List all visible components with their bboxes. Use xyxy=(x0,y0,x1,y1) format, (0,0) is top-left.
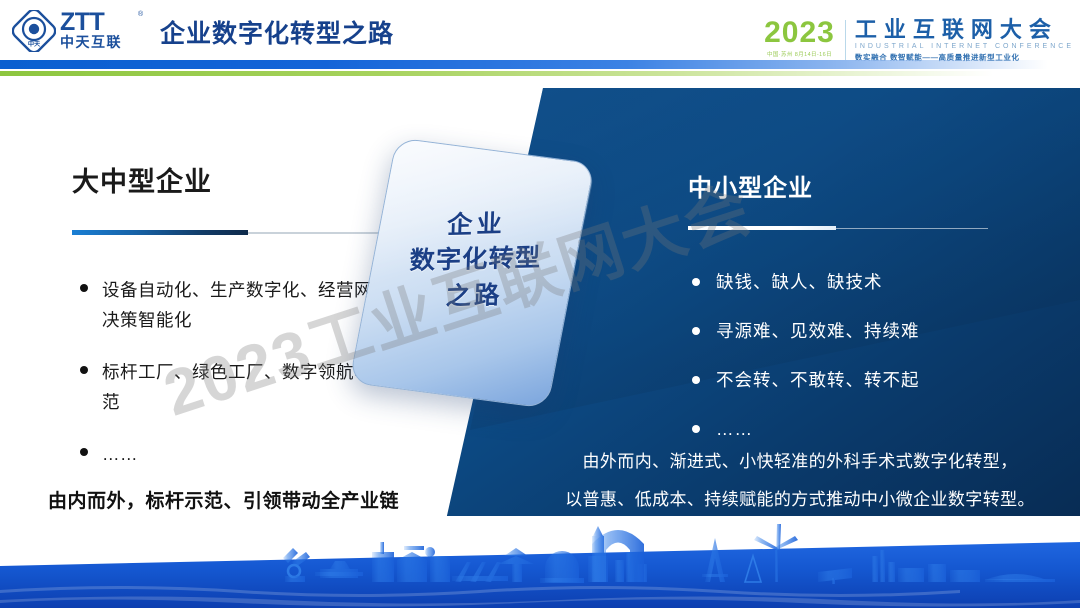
list-item: 不会转、不敢转、转不起 xyxy=(688,367,1048,393)
list-item: 寻源难、见效难、持续难 xyxy=(688,318,1048,344)
slide-header: 中天 ZTT ® 中天互联 企业数字化转型之路 2023 中国·苏州 8月14日… xyxy=(0,0,1080,58)
right-underline-thin xyxy=(836,228,988,229)
right-bullet-list: 缺钱、缺人、缺技术 寻源难、见效难、持续难 不会转、不敢转、转不起 …… xyxy=(688,269,1048,442)
bullet-dot-icon xyxy=(80,284,88,292)
bullet-dot-icon xyxy=(692,327,700,335)
conference-name-cn: 工业互联网大会 xyxy=(855,18,1074,42)
right-panel-underline xyxy=(688,225,988,233)
list-item-label: 缺钱、缺人、缺技术 xyxy=(716,269,883,295)
bullet-dot-icon xyxy=(692,425,700,433)
left-underline-thin xyxy=(248,232,390,234)
list-item: 缺钱、缺人、缺技术 xyxy=(688,269,1048,295)
page-title: 企业数字化转型之路 xyxy=(160,14,394,50)
center-card-text: 企业 数字化转型 之路 xyxy=(372,205,578,317)
list-item: …… xyxy=(72,439,432,469)
list-item: …… xyxy=(688,416,1048,442)
center-card-line3: 之路 xyxy=(372,275,575,318)
ztt-en-text: ZTT xyxy=(60,10,104,34)
right-footer-line2: 以普惠、低成本、持续赋能的方式推动中小微企业数字转型。 xyxy=(535,481,1065,519)
right-panel-title: 中小型企业 xyxy=(688,168,1048,203)
ztt-diamond-icon: 中天 xyxy=(12,10,56,52)
ztt-wordmark: ZTT ® 中天互联 xyxy=(60,10,148,52)
bullet-dot-icon xyxy=(692,278,700,286)
list-item-label: 不会转、不敢转、转不起 xyxy=(716,367,920,393)
left-panel-footer: 由内而外，标杆示范、引领带动全产业链 xyxy=(48,486,399,513)
center-card-face: 企业 数字化转型 之路 xyxy=(349,137,595,409)
left-underline-thick xyxy=(72,230,248,235)
registered-icon: ® xyxy=(138,11,143,18)
ztt-mark-cn: 中天 xyxy=(28,40,41,48)
list-item-label: …… xyxy=(102,439,138,469)
center-card-line2: 数字化转型 xyxy=(374,239,577,280)
center-card: 企业 数字化转型 之路 xyxy=(372,148,572,398)
header-rule-green xyxy=(0,71,1080,76)
bottom-skyline-band xyxy=(0,516,1080,608)
right-panel-content: 中小型企业 缺钱、缺人、缺技术 寻源难、见效难、持续难 不会转、不敢转、转不起 … xyxy=(688,168,1048,465)
header-rule-blue xyxy=(0,60,1080,69)
left-panel-underline xyxy=(72,229,390,237)
list-item-label: 寻源难、见效难、持续难 xyxy=(716,318,920,344)
center-card-line1: 企业 xyxy=(375,205,578,244)
right-underline-thick xyxy=(688,226,836,230)
right-footer-line1: 由外而内、渐进式、小快轻准的外科手术式数字化转型， xyxy=(535,443,1065,481)
conference-date: 中国·苏州 8月14日-16日 xyxy=(764,50,835,58)
bullet-dot-icon xyxy=(80,366,88,374)
slide-root: 中天 ZTT ® 中天互联 企业数字化转型之路 2023 中国·苏州 8月14日… xyxy=(0,0,1080,608)
bullet-dot-icon xyxy=(80,448,88,456)
bullet-dot-icon xyxy=(692,376,700,384)
conference-name-en: INDUSTRIAL INTERNET CONFERENCE xyxy=(855,42,1074,52)
conference-year-block: 2023 中国·苏州 8月14日-16日 xyxy=(764,18,845,58)
right-panel-footer: 由外而内、渐进式、小快轻准的外科手术式数字化转型， 以普惠、低成本、持续赋能的方… xyxy=(535,443,1065,519)
list-item-label: …… xyxy=(716,416,753,442)
ztt-logo: 中天 ZTT ® 中天互联 xyxy=(12,9,148,53)
ztt-cn-text: 中天互联 xyxy=(60,34,122,50)
conference-name-block: 工业互联网大会 INDUSTRIAL INTERNET CONFERENCE 数… xyxy=(855,18,1074,63)
conference-year: 2023 xyxy=(764,18,835,48)
